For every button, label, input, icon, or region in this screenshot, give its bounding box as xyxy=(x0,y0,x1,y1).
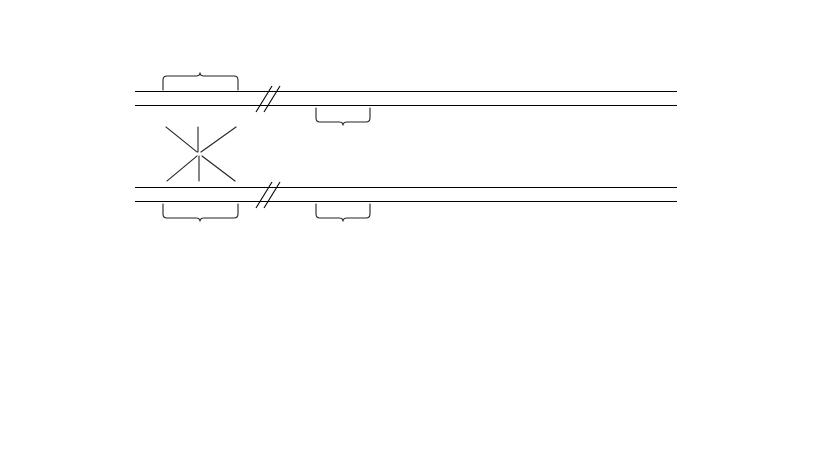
leader-control-to-c xyxy=(202,156,235,181)
bottom-enhancer-brace xyxy=(163,204,238,222)
annotation-overlay xyxy=(0,0,819,460)
bottom-dna-strand xyxy=(135,187,677,202)
bottom-promoter-brace xyxy=(316,204,370,222)
leader-c-to-control xyxy=(201,127,236,152)
figure-canvas xyxy=(0,0,819,460)
top-enhancer-brace xyxy=(163,73,238,91)
leader-control-to-d xyxy=(167,156,197,181)
top-dna-strand xyxy=(135,91,677,106)
leader-a-to-control xyxy=(166,127,197,152)
top-promoter-brace xyxy=(316,108,370,126)
